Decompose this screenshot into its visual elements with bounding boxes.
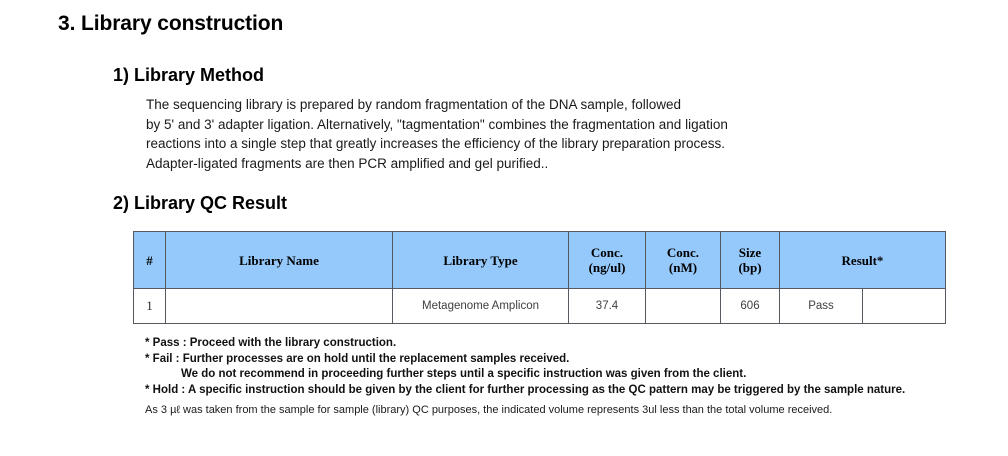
volume-note: As 3 µℓ was taken from the sample for sa…: [145, 404, 832, 416]
column-header-conc-ngul: Conc. (ng/ul): [569, 232, 646, 289]
method-line-1: The sequencing library is prepared by ra…: [146, 95, 886, 115]
method-line-4: Adapter-ligated fragments are then PCR a…: [146, 154, 886, 174]
column-header-size-line2: (bp): [721, 260, 779, 275]
column-header-conc-ngul-line2: (ng/ul): [569, 260, 645, 275]
qc-footnotes: * Pass : Proceed with the library constr…: [145, 336, 905, 398]
page-title: 3. Library construction: [58, 12, 283, 36]
column-header-library-name: Library Name: [166, 232, 393, 289]
column-header-conc-nm-line1: Conc.: [646, 245, 720, 260]
cell-library-type: Metagenome Amplicon: [393, 289, 569, 324]
cell-result-note: [863, 289, 946, 324]
table-header-row: # Library Name Library Type Conc. (ng/ul…: [134, 232, 946, 289]
method-line-2: by 5' and 3' adapter ligation. Alternati…: [146, 115, 886, 135]
column-header-library-type: Library Type: [393, 232, 569, 289]
footnote-pass: * Pass : Proceed with the library constr…: [145, 336, 905, 352]
library-method-paragraph: The sequencing library is prepared by ra…: [146, 95, 886, 173]
footnote-fail-continuation: We do not recommend in proceeding furthe…: [145, 367, 905, 383]
column-header-result: Result*: [780, 232, 946, 289]
footnote-hold: * Hold : A specific instruction should b…: [145, 383, 905, 399]
column-header-conc-ngul-line1: Conc.: [569, 245, 645, 260]
cell-size-bp: 606: [721, 289, 780, 324]
cell-index: 1: [134, 289, 166, 324]
method-line-3: reactions into a single step that greatl…: [146, 134, 886, 154]
library-qc-table-container: # Library Name Library Type Conc. (ng/ul…: [133, 231, 946, 324]
footnote-fail: * Fail : Further processes are on hold u…: [145, 352, 905, 368]
column-header-index: #: [134, 232, 166, 289]
library-qc-table: # Library Name Library Type Conc. (ng/ul…: [133, 231, 946, 324]
table-row: 1 Metagenome Amplicon 37.4 606 Pass: [134, 289, 946, 324]
library-qc-result-heading: 2) Library QC Result: [113, 193, 287, 214]
column-header-conc-nm: Conc. (nM): [646, 232, 721, 289]
column-header-conc-nm-line2: (nM): [646, 260, 720, 275]
cell-result-status: Pass: [780, 289, 863, 324]
library-method-heading: 1) Library Method: [113, 65, 264, 86]
cell-library-name: [166, 289, 393, 324]
column-header-size-bp: Size (bp): [721, 232, 780, 289]
cell-conc-ngul: 37.4: [569, 289, 646, 324]
cell-conc-nm: [646, 289, 721, 324]
column-header-size-line1: Size: [721, 245, 779, 260]
